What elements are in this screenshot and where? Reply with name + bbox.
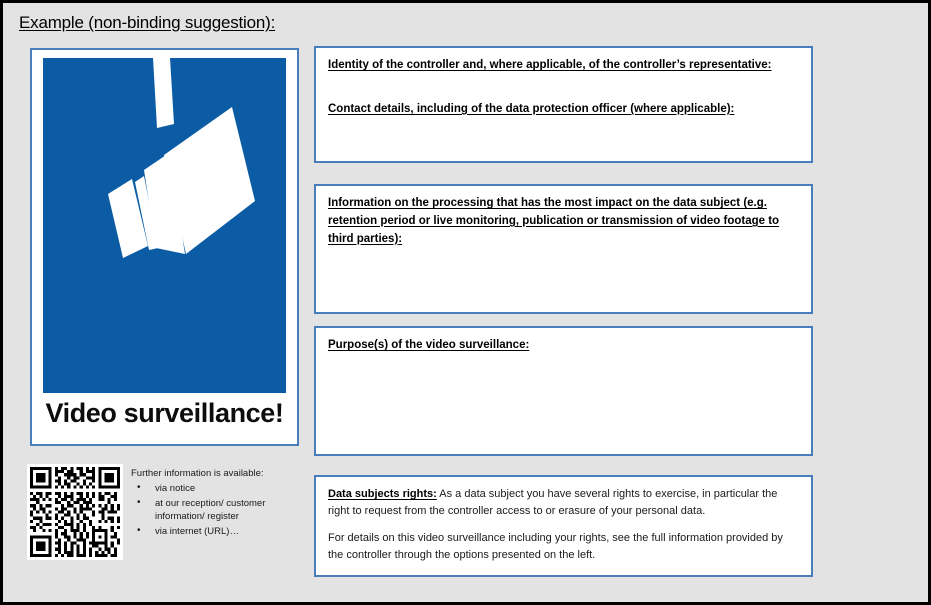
field-box-identity[interactable]: Identity of the controller and, where ap…	[314, 46, 813, 163]
sign-caption: Video surveillance!	[32, 398, 297, 429]
rights-lead-label: Data subjects rights:	[328, 488, 437, 500]
further-information-heading: Further information is available:	[131, 467, 301, 481]
page-title: Example (non-binding suggestion):	[19, 13, 275, 33]
sign-blue-field	[43, 58, 286, 393]
rights-paragraph-2: For details on this video surveillance i…	[328, 530, 799, 563]
field-box-impact[interactable]: Information on the processing that has t…	[314, 184, 813, 314]
example-sign-page: Example (non-binding suggestion): Video …	[0, 0, 931, 605]
field-label-identity: Identity of the controller and, where ap…	[328, 57, 799, 75]
list-item: via notice	[131, 482, 301, 496]
field-box-data-subjects-rights[interactable]: Data subjects rights: As a data subject …	[314, 475, 813, 577]
list-item: via internet (URL)…	[131, 525, 301, 539]
rights-paragraph-1: Data subjects rights: As a data subject …	[328, 486, 799, 519]
field-label-purpose: Purpose(s) of the video surveillance:	[328, 337, 799, 355]
video-surveillance-sign: Video surveillance!	[30, 48, 299, 446]
further-information-list: via notice at our reception/ customer in…	[131, 482, 301, 539]
field-entry-space-identity[interactable]	[328, 75, 799, 101]
qr-code-svg	[30, 467, 120, 557]
further-information-text: Further information is available: via no…	[131, 467, 301, 540]
cctv-camera-icon	[43, 58, 286, 393]
field-label-impact: Information on the processing that has t…	[328, 195, 799, 248]
qr-code-icon	[27, 464, 123, 560]
field-box-purpose[interactable]: Purpose(s) of the video surveillance:	[314, 326, 813, 456]
further-information-block: Further information is available: via no…	[27, 464, 302, 564]
list-item: at our reception/ customer information/ …	[131, 497, 301, 525]
field-label-contact-details: Contact details, including of the data p…	[328, 101, 799, 119]
